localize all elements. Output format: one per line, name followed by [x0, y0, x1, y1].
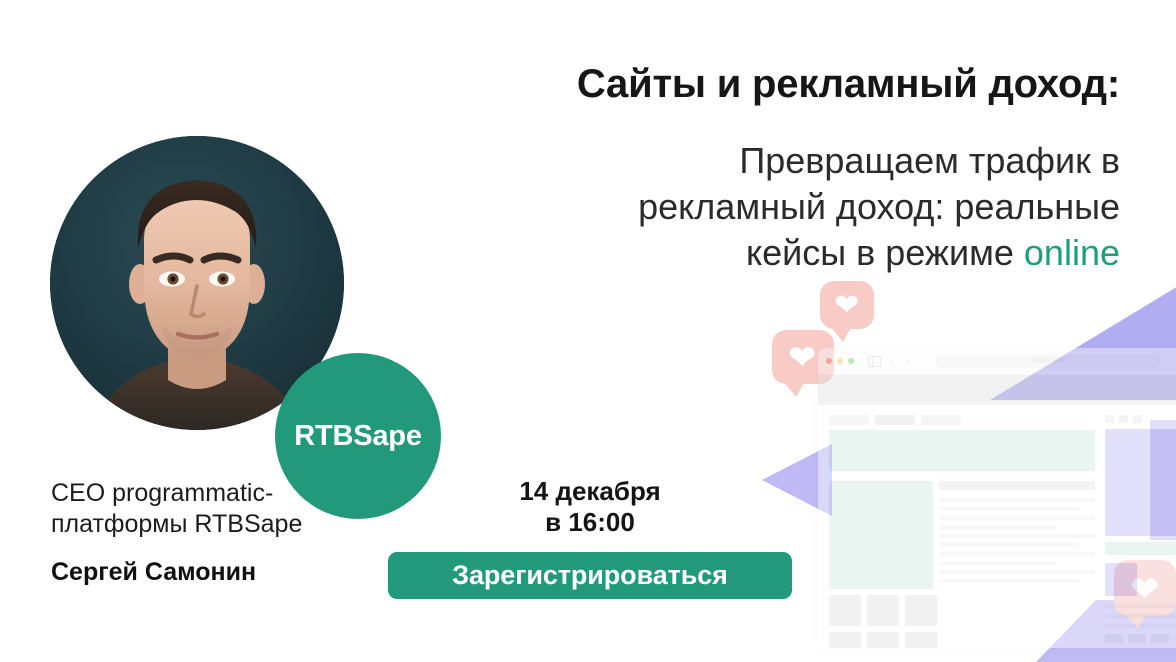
browser-chrome-bar: ‹ › rtbsape.com + ☐ [818, 348, 1176, 375]
browser-tab-bar [818, 375, 1176, 405]
mock-text-line [939, 570, 1095, 574]
mock-hero-banner [829, 430, 1095, 471]
webinar-banner: ❤ ❤ ❤ ‹ › rtbsape.com + ☐ [0, 0, 1176, 662]
mock-side-footer [1105, 634, 1176, 643]
mock-grid-thumb [905, 595, 937, 626]
heart-icon-2: ❤ [788, 341, 817, 375]
mock-nav-chips [829, 415, 1095, 425]
heart-icon-1: ❤ [834, 291, 859, 321]
subtitle-line-3-text: кейсы в режиме [746, 232, 1024, 273]
mock-grid-thumb [829, 632, 861, 648]
mock-text-line [939, 534, 1095, 538]
speaker-role-line-1: CEO programmatic- [51, 478, 381, 509]
register-button[interactable]: Зарегистрироваться [388, 552, 792, 599]
mock-nav-chip [829, 415, 869, 425]
subtitle-line-3: кейсы в режиме online [480, 230, 1120, 276]
event-date-line-1: 14 декабря [390, 476, 790, 507]
rtbsape-logo-dot-icon [446, 353, 451, 358]
mock-side-icon [1105, 415, 1114, 423]
window-maximize-dot [848, 358, 854, 364]
mock-side-icon-row [1105, 415, 1176, 423]
mock-article-text [939, 481, 1095, 589]
mock-ad-banner-strip [1105, 542, 1176, 555]
like-bubble-icon-1 [820, 281, 874, 329]
mock-text-line [939, 481, 1095, 490]
mock-grid-thumb [829, 595, 861, 626]
mock-thumb-grid-row [829, 595, 1095, 626]
speaker-role-line-2: платформы RTBSape [51, 509, 381, 540]
mock-main-column [829, 415, 1095, 648]
mock-text-line [939, 516, 1095, 520]
mock-ad-banner-large [1105, 429, 1176, 536]
mock-thumb-grid-row [829, 632, 1095, 648]
event-date-line-2: в 16:00 [390, 507, 790, 538]
mock-text-line [939, 525, 1056, 529]
mock-side-footer-item [1151, 634, 1169, 643]
browser-window-mockup: ‹ › rtbsape.com + ☐ [818, 348, 1176, 648]
mock-ad-square [1105, 563, 1137, 596]
mock-nav-chip [921, 415, 961, 425]
mock-side-icon [1133, 415, 1142, 423]
event-datetime: 14 декабря в 16:00 [390, 476, 790, 538]
rtbsape-logo-text: RTBSape [294, 420, 422, 453]
mock-side-icon [1119, 415, 1128, 423]
page-subtitle: Превращаем трафик в рекламный доход: реа… [480, 138, 1120, 276]
page-title: Сайты и рекламный доход: [420, 62, 1120, 107]
mock-grid-thumb [867, 595, 899, 626]
sidebar-toggle-icon [868, 356, 881, 367]
mock-side-line [1105, 614, 1176, 618]
address-bar-text: rtbsape.com [1030, 358, 1066, 364]
window-close-dot [826, 358, 832, 364]
mock-text-line [939, 543, 1079, 547]
speaker-name: Сергей Самонин [51, 558, 256, 587]
mock-article-row [829, 481, 1095, 589]
mock-text-line [939, 552, 1095, 556]
mock-text-line [939, 498, 1095, 502]
mock-text-line [939, 561, 1056, 565]
mock-side-line [1105, 604, 1176, 608]
back-arrow-icon: ‹ [886, 356, 897, 367]
window-minimize-dot [837, 358, 843, 364]
mock-side-footer-item [1105, 634, 1123, 643]
mock-nav-chip [875, 415, 915, 425]
address-bar: rtbsape.com [936, 355, 1160, 368]
speaker-role: CEO programmatic- платформы RTBSape [51, 478, 381, 539]
subtitle-accent-online: online [1024, 232, 1120, 273]
browser-page-content [818, 405, 1176, 648]
mock-text-line [939, 507, 1079, 511]
mock-grid-thumb [867, 632, 899, 648]
subtitle-line-2: рекламный доход: реальные [480, 184, 1120, 230]
mock-side-line [1105, 624, 1176, 628]
mock-side-footer-item [1128, 634, 1146, 643]
mock-text-line [939, 579, 1079, 583]
subtitle-line-1: Превращаем трафик в [480, 138, 1120, 184]
mock-sidebar-column [1105, 415, 1176, 648]
mock-article-thumb [829, 481, 933, 589]
mock-grid-thumb [905, 632, 937, 648]
forward-arrow-icon: › [902, 356, 913, 367]
